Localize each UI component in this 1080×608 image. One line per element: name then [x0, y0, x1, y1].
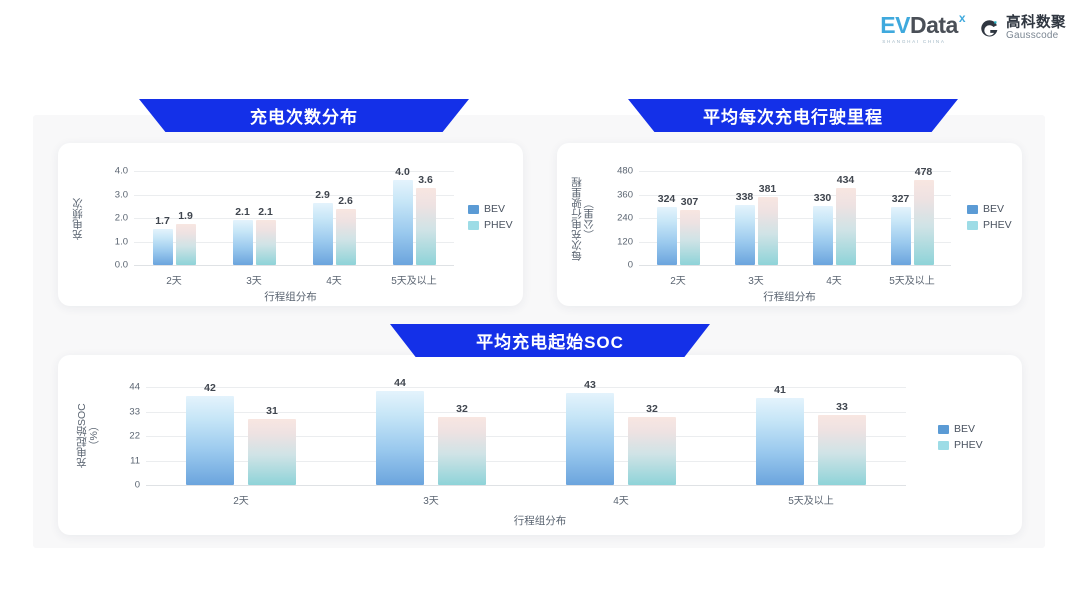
bar-pair: 4.03.6: [393, 171, 436, 265]
x-axis-tick-row: 2天3天4天5天及以上: [639, 272, 951, 287]
bar-bev[interactable]: 330: [813, 206, 833, 265]
bar-phev[interactable]: 307: [680, 210, 700, 265]
evdata-logo: EVDatax SHANGHAI CHINA: [880, 14, 965, 44]
legend-swatch-bev-icon: [967, 205, 978, 214]
bar-value-label: 478: [915, 166, 933, 178]
bar-pair: 338381: [735, 171, 778, 265]
legend-swatch-bev-icon: [468, 205, 479, 214]
legend-swatch-phev-icon: [468, 221, 479, 230]
bar-phev[interactable]: 1.9: [176, 224, 196, 265]
bar-bev[interactable]: 338: [735, 205, 755, 265]
legend-swatch-bev-icon: [938, 425, 949, 434]
x-axis-title: 行程组分布: [557, 289, 1022, 304]
bar-value-label: 44: [394, 377, 406, 389]
bar-bev[interactable]: 2.9: [313, 203, 333, 265]
y-axis-tick-label: 4.0: [115, 166, 128, 177]
bar-value-label: 327: [892, 193, 910, 205]
legend-label: BEV: [954, 423, 975, 435]
x-axis-tick-row: 2天3天4天5天及以上: [146, 492, 906, 507]
gausscode-logo-english: Gausscode: [1006, 31, 1066, 42]
bar-phev[interactable]: 381: [758, 197, 778, 265]
logo-bar: EVDatax SHANGHAI CHINA 高科数聚 Gausscode: [880, 14, 1066, 44]
bar-group: 4133: [716, 387, 906, 485]
x-axis-tick-row: 2天3天4天5天及以上: [134, 272, 454, 287]
y-axis-tick-label: 240: [617, 213, 633, 224]
bar-bev[interactable]: 2.1: [233, 220, 253, 265]
gausscode-logo: 高科数聚 Gausscode: [979, 16, 1066, 42]
gridline: [146, 485, 906, 486]
x-axis-title: 行程组分布: [58, 513, 1022, 528]
bar-phev[interactable]: 31: [248, 419, 296, 485]
bar-group: 2.12.1: [214, 171, 294, 265]
bar-value-label: 32: [456, 403, 468, 415]
plot-area: 4.03.02.01.00.01.71.92.12.12.92.64.03.6: [134, 171, 454, 265]
y-axis-tick-label: 22: [129, 431, 140, 442]
y-axis-tick-label: 0: [135, 480, 140, 491]
bar-value-label: 2.9: [315, 189, 330, 201]
bar-value-label: 4.0: [395, 166, 410, 178]
y-axis-title: 充电频次: [72, 173, 84, 265]
bar-group: 4231: [146, 387, 336, 485]
chart-title-banner-charging-frequency: 充电次数分布: [139, 99, 469, 132]
bar-bev[interactable]: 324: [657, 207, 677, 265]
bar-value-label: 324: [658, 193, 676, 205]
legend-swatch-phev-icon: [938, 441, 949, 450]
legend-item-phev[interactable]: PHEV: [967, 219, 1012, 231]
y-axis-tick-label: 0: [628, 260, 633, 271]
x-axis-tick-label: 5天及以上: [873, 272, 951, 287]
x-axis-title: 行程组分布: [58, 289, 523, 304]
y-axis-tick-label: 11: [130, 455, 140, 466]
bar-bev[interactable]: 43: [566, 393, 614, 485]
gridline: [134, 265, 454, 266]
plot-area: 4803602401200324307338381330434327478: [639, 171, 951, 265]
bar-bev[interactable]: 44: [376, 391, 424, 485]
x-axis-tick-label: 2天: [134, 272, 214, 287]
bar-pair: 4133: [756, 387, 866, 485]
y-axis-tick-label: 120: [617, 236, 633, 247]
bar-value-label: 42: [204, 382, 216, 394]
bar-value-label: 2.6: [338, 195, 353, 207]
bar-phev[interactable]: 32: [438, 417, 486, 485]
legend-item-phev[interactable]: PHEV: [938, 439, 983, 451]
chart-card-avg-range-per-charge: 每次充电行驶里程 （公里）480360240120032430733838133…: [557, 143, 1022, 306]
gausscode-g-mark-icon: [979, 19, 1000, 40]
bar-value-label: 41: [774, 384, 786, 396]
legend-item-bev[interactable]: BEV: [967, 203, 1012, 215]
x-axis-tick-label: 5天及以上: [716, 492, 906, 507]
bar-pair: 2.12.1: [233, 171, 276, 265]
y-axis-tick-label: 3.0: [115, 189, 128, 200]
evdata-logo-superscript: x: [959, 12, 965, 24]
bar-value-label: 434: [837, 174, 855, 186]
y-axis-title: 每次充电行驶里程 （公里）: [571, 165, 595, 273]
bar-bev[interactable]: 42: [186, 396, 234, 485]
bar-pair: 4332: [566, 387, 676, 485]
gausscode-logo-text: 高科数聚 Gausscode: [1006, 16, 1066, 42]
legend-swatch-phev-icon: [967, 221, 978, 230]
legend-label: BEV: [983, 203, 1004, 215]
gridline: [639, 265, 951, 266]
bar-phev[interactable]: 3.6: [416, 188, 436, 265]
chart-legend: BEVPHEV: [967, 203, 1012, 231]
x-axis-tick-label: 4天: [294, 272, 374, 287]
bar-bev[interactable]: 327: [891, 207, 911, 265]
bar-value-label: 43: [584, 379, 596, 391]
bar-group: 4332: [526, 387, 716, 485]
bar-bev[interactable]: 4.0: [393, 180, 413, 265]
chart-title-banner-avg-start-soc: 平均充电起始SOC: [390, 324, 710, 357]
bar-group: 330434: [795, 171, 873, 265]
bar-group: 324307: [639, 171, 717, 265]
bar-value-label: 381: [759, 183, 777, 195]
x-axis-tick-label: 3天: [336, 492, 526, 507]
x-axis-tick-label: 5天及以上: [374, 272, 454, 287]
chart-avg-start-soc: 充电起始SOC （%）44332211042314432433241332天3天…: [58, 355, 1022, 535]
x-axis-tick-label: 4天: [795, 272, 873, 287]
gausscode-logo-chinese: 高科数聚: [1006, 16, 1066, 31]
y-axis-tick-label: 1.0: [115, 236, 128, 247]
legend-label: PHEV: [983, 219, 1012, 231]
chart-title-banner-avg-range-per-charge: 平均每次充电行驶里程: [628, 99, 958, 132]
bar-group: 2.92.6: [294, 171, 374, 265]
bar-pair: 4231: [186, 387, 296, 485]
legend-label: BEV: [484, 203, 505, 215]
bar-pair: 4432: [376, 387, 486, 485]
y-axis-tick-label: 360: [617, 189, 633, 200]
chart-legend: BEVPHEV: [468, 203, 513, 231]
bar-phev[interactable]: 478: [914, 180, 934, 265]
evdata-logo-wordmark: EVDatax: [880, 14, 965, 37]
legend-item-phev[interactable]: PHEV: [468, 219, 513, 231]
bar-phev[interactable]: 2.6: [336, 209, 356, 265]
bar-group: 4.03.6: [374, 171, 454, 265]
chart-card-charging-frequency: 充电频次4.03.02.01.00.01.71.92.12.12.92.64.0…: [58, 143, 523, 306]
bar-pair: 1.71.9: [153, 171, 196, 265]
legend-item-bev[interactable]: BEV: [938, 423, 983, 435]
y-axis-tick-label: 33: [129, 406, 140, 417]
bar-phev[interactable]: 2.1: [256, 220, 276, 265]
legend-label: PHEV: [954, 439, 983, 451]
bar-phev[interactable]: 33: [818, 415, 866, 485]
bar-value-label: 32: [646, 403, 658, 415]
bar-pair: 330434: [813, 171, 856, 265]
bar-phev[interactable]: 32: [628, 417, 676, 485]
bar-value-label: 2.1: [258, 206, 273, 218]
bar-pair: 2.92.6: [313, 171, 356, 265]
chart-avg-range-per-charge: 每次充电行驶里程 （公里）480360240120032430733838133…: [557, 143, 1022, 306]
bar-value-label: 2.1: [235, 206, 250, 218]
bar-bev[interactable]: 41: [756, 398, 804, 485]
bar-phev[interactable]: 434: [836, 188, 856, 265]
bar-value-label: 1.9: [178, 210, 193, 222]
y-axis-tick-label: 0.0: [115, 260, 128, 271]
bar-group: 1.71.9: [134, 171, 214, 265]
bar-value-label: 338: [736, 191, 754, 203]
bar-value-label: 3.6: [418, 174, 433, 186]
evdata-logo-suffix: Data: [910, 14, 958, 37]
bar-groups: 1.71.92.12.12.92.64.03.6: [134, 171, 454, 265]
y-axis-tick-label: 480: [617, 166, 633, 177]
bar-group: 4432: [336, 387, 526, 485]
y-axis-title: 充电起始SOC （%）: [76, 383, 100, 489]
bar-value-label: 31: [266, 405, 278, 417]
slide-root: EVDatax SHANGHAI CHINA 高科数聚 Gausscode 充电…: [0, 0, 1080, 608]
x-axis-tick-label: 2天: [639, 272, 717, 287]
chart-card-avg-start-soc: 充电起始SOC （%）44332211042314432433241332天3天…: [58, 355, 1022, 535]
bar-value-label: 1.7: [155, 215, 170, 227]
x-axis-tick-label: 4天: [526, 492, 716, 507]
bar-value-label: 330: [814, 192, 832, 204]
bar-pair: 324307: [657, 171, 700, 265]
bar-value-label: 307: [681, 196, 699, 208]
y-axis-tick-label: 44: [129, 382, 140, 393]
y-axis-tick-label: 2.0: [115, 213, 128, 224]
bar-bev[interactable]: 1.7: [153, 229, 173, 265]
bar-group: 327478: [873, 171, 951, 265]
bar-groups: 4231443243324133: [146, 387, 906, 485]
x-axis-tick-label: 3天: [717, 272, 795, 287]
evdata-logo-prefix: EV: [880, 14, 910, 37]
x-axis-tick-label: 3天: [214, 272, 294, 287]
chart-charging-frequency: 充电频次4.03.02.01.00.01.71.92.12.12.92.64.0…: [58, 143, 523, 306]
bar-pair: 327478: [891, 171, 934, 265]
bar-groups: 324307338381330434327478: [639, 171, 951, 265]
plot-area: 4433221104231443243324133: [146, 387, 906, 485]
bar-value-label: 33: [836, 401, 848, 413]
chart-legend: BEVPHEV: [938, 423, 983, 451]
x-axis-tick-label: 2天: [146, 492, 336, 507]
legend-label: PHEV: [484, 219, 513, 231]
legend-item-bev[interactable]: BEV: [468, 203, 513, 215]
evdata-logo-tagline: SHANGHAI CHINA: [882, 39, 945, 44]
bar-group: 338381: [717, 171, 795, 265]
